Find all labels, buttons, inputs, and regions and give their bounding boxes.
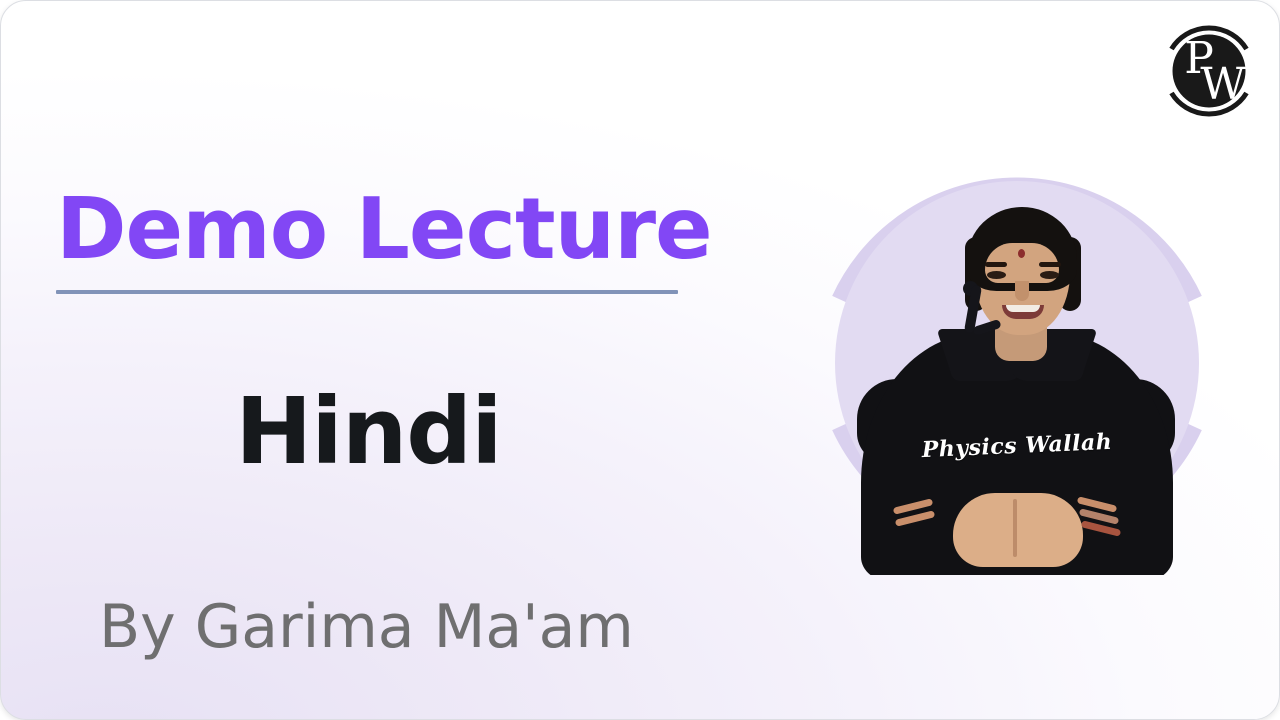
title-underline xyxy=(56,290,678,294)
page-title: Demo Lecture xyxy=(56,187,756,272)
eyebrow-left xyxy=(985,262,1007,267)
lecture-slide: P W Demo Lecture Hindi By Garima Ma'am xyxy=(0,0,1280,720)
nose xyxy=(1015,281,1029,301)
eye-right xyxy=(1040,271,1059,279)
physics-wallah-logo: P W xyxy=(1153,15,1265,127)
instructor-photo: Physics Wallah xyxy=(835,181,1199,575)
eye-left xyxy=(987,271,1006,279)
logo-letter-w: W xyxy=(1200,59,1246,110)
clasped-hands xyxy=(953,493,1083,567)
eyebrow-right xyxy=(1039,262,1061,267)
instructor-byline: By Garima Ma'am xyxy=(99,597,634,657)
bindi-icon xyxy=(1018,249,1025,258)
subject-title: Hindi xyxy=(56,386,681,478)
teeth xyxy=(1006,305,1040,312)
instructor-portrait: Physics Wallah xyxy=(807,153,1227,573)
headline-block: Demo Lecture xyxy=(56,187,756,294)
hand-seam xyxy=(1013,499,1017,557)
